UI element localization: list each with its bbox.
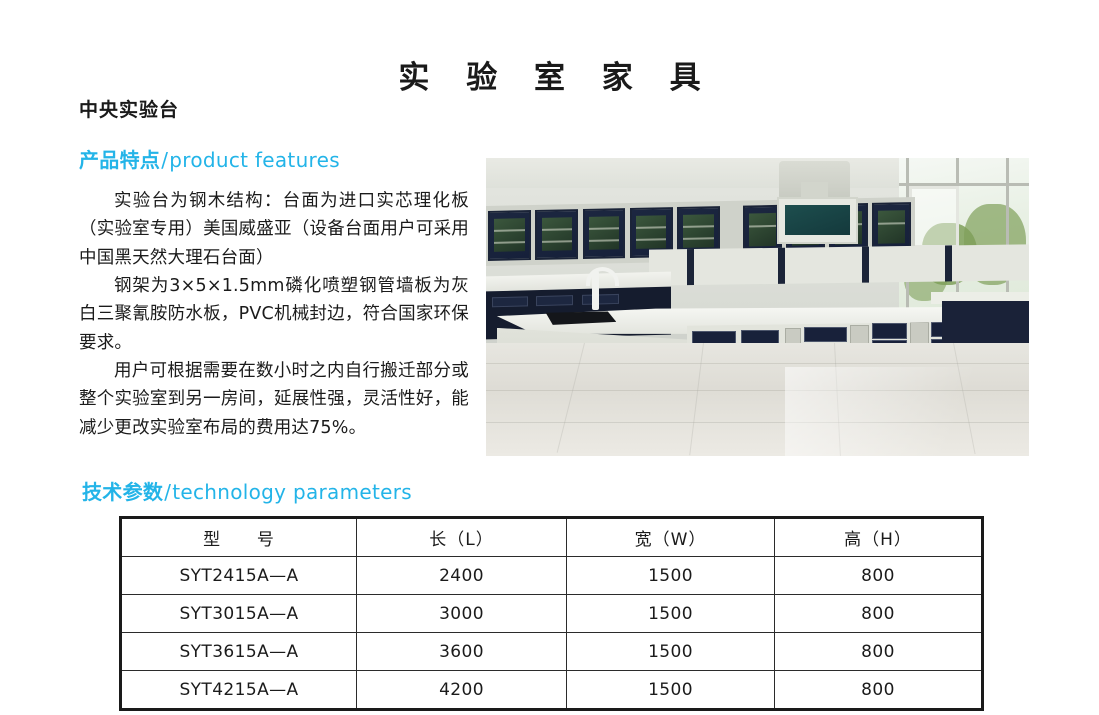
column-header-model-right: 号 — [257, 530, 275, 550]
photo-shelf-divider — [945, 246, 952, 282]
cell-width: 1500 — [567, 595, 775, 633]
table-row: SYT3015A—A 3000 1500 800 — [121, 595, 983, 633]
photo-faucet-stem — [592, 271, 599, 310]
column-header-width: 宽（W） — [567, 518, 775, 557]
photo-window-sash — [909, 186, 959, 248]
cell-model: SYT2415A—A — [121, 557, 357, 595]
cell-height: 800 — [775, 633, 983, 671]
feature-paragraph-3: 用户可根据需要在数小时之内自行搬迁部分或整个实验室到另一房间，延展性强，灵活性好… — [79, 357, 469, 442]
photo-upper-cabinet-door — [583, 208, 626, 259]
laboratory-photo — [486, 158, 1029, 456]
photo-floor-reflection — [785, 367, 1029, 456]
technology-parameters-heading-slash: / — [163, 480, 172, 504]
left-content-column: 中央实验台 产品特点/product features 实验台为钢木结构：台面为… — [79, 95, 469, 442]
cell-width: 1500 — [567, 671, 775, 710]
product-features-heading-en: product features — [169, 148, 340, 172]
photo-fume-hood — [777, 197, 858, 245]
photo-upper-cabinet-door — [872, 202, 911, 253]
photo-shelf-divider — [862, 247, 869, 283]
laboratory-photo-illustration — [486, 158, 1029, 456]
photo-upper-cabinet-door — [535, 209, 578, 260]
technology-parameters-heading-zh: 技术参数 — [82, 480, 163, 504]
cell-length: 3600 — [357, 633, 567, 671]
cell-height: 800 — [775, 671, 983, 710]
product-features-heading: 产品特点/product features — [79, 144, 469, 173]
product-features-heading-slash: / — [160, 148, 169, 172]
column-header-height: 高（H） — [775, 518, 983, 557]
feature-paragraph-2: 钢架为3×5×1.5mm磷化喷塑钢管墙板为灰白三聚氰胺防水板，PVC机械封边，符… — [79, 272, 469, 357]
column-header-length: 长（L） — [357, 518, 567, 557]
cell-length: 2400 — [357, 557, 567, 595]
photo-window — [899, 158, 1029, 313]
section-subtitle: 中央实验台 — [79, 95, 469, 122]
cell-height: 800 — [775, 595, 983, 633]
cell-model: SYT4215A—A — [121, 671, 357, 710]
product-features-body: 实验台为钢木结构：台面为进口实芯理化板（实验室专用）美国威盛亚（设备台面用户可采… — [79, 187, 469, 442]
photo-drawer — [536, 295, 573, 306]
photo-drawer — [492, 296, 529, 307]
page-title: 实 验 室 家 具 — [0, 52, 1099, 97]
cell-width: 1500 — [567, 633, 775, 671]
photo-drawer — [872, 323, 907, 338]
table-row: SYT2415A—A 2400 1500 800 — [121, 557, 983, 595]
table-row: SYT3615A—A 3600 1500 800 — [121, 633, 983, 671]
product-features-heading-zh: 产品特点 — [79, 148, 160, 172]
photo-upper-cabinet-door — [488, 209, 531, 260]
technology-parameters-heading: 技术参数/technology parameters — [82, 476, 412, 505]
cell-width: 1500 — [567, 557, 775, 595]
photo-drawer — [582, 294, 619, 305]
technology-parameters-heading-en: technology parameters — [172, 480, 412, 504]
column-header-model-left: 型 — [203, 530, 221, 550]
specifications-table: 型号 长（L） 宽（W） 高（H） SYT2415A—A 2400 1500 8… — [119, 516, 984, 711]
column-header-model: 型号 — [121, 518, 357, 557]
cell-model: SYT3015A—A — [121, 595, 357, 633]
feature-paragraph-1: 实验台为钢木结构：台面为进口实芯理化板（实验室专用）美国威盛亚（设备台面用户可采… — [79, 187, 469, 272]
cell-model: SYT3615A—A — [121, 633, 357, 671]
table-row: SYT4215A—A 4200 1500 800 — [121, 671, 983, 710]
cell-length: 4200 — [357, 671, 567, 710]
table-header-row: 型号 长（L） 宽（W） 高（H） — [121, 518, 983, 557]
photo-drawer — [804, 327, 847, 342]
photo-shelf-divider — [687, 249, 694, 285]
cell-height: 800 — [775, 557, 983, 595]
cell-length: 3000 — [357, 595, 567, 633]
photo-reagent-shelf — [649, 245, 1029, 286]
photo-shelf-divider — [778, 248, 785, 284]
photo-window-mullion — [1006, 158, 1009, 313]
